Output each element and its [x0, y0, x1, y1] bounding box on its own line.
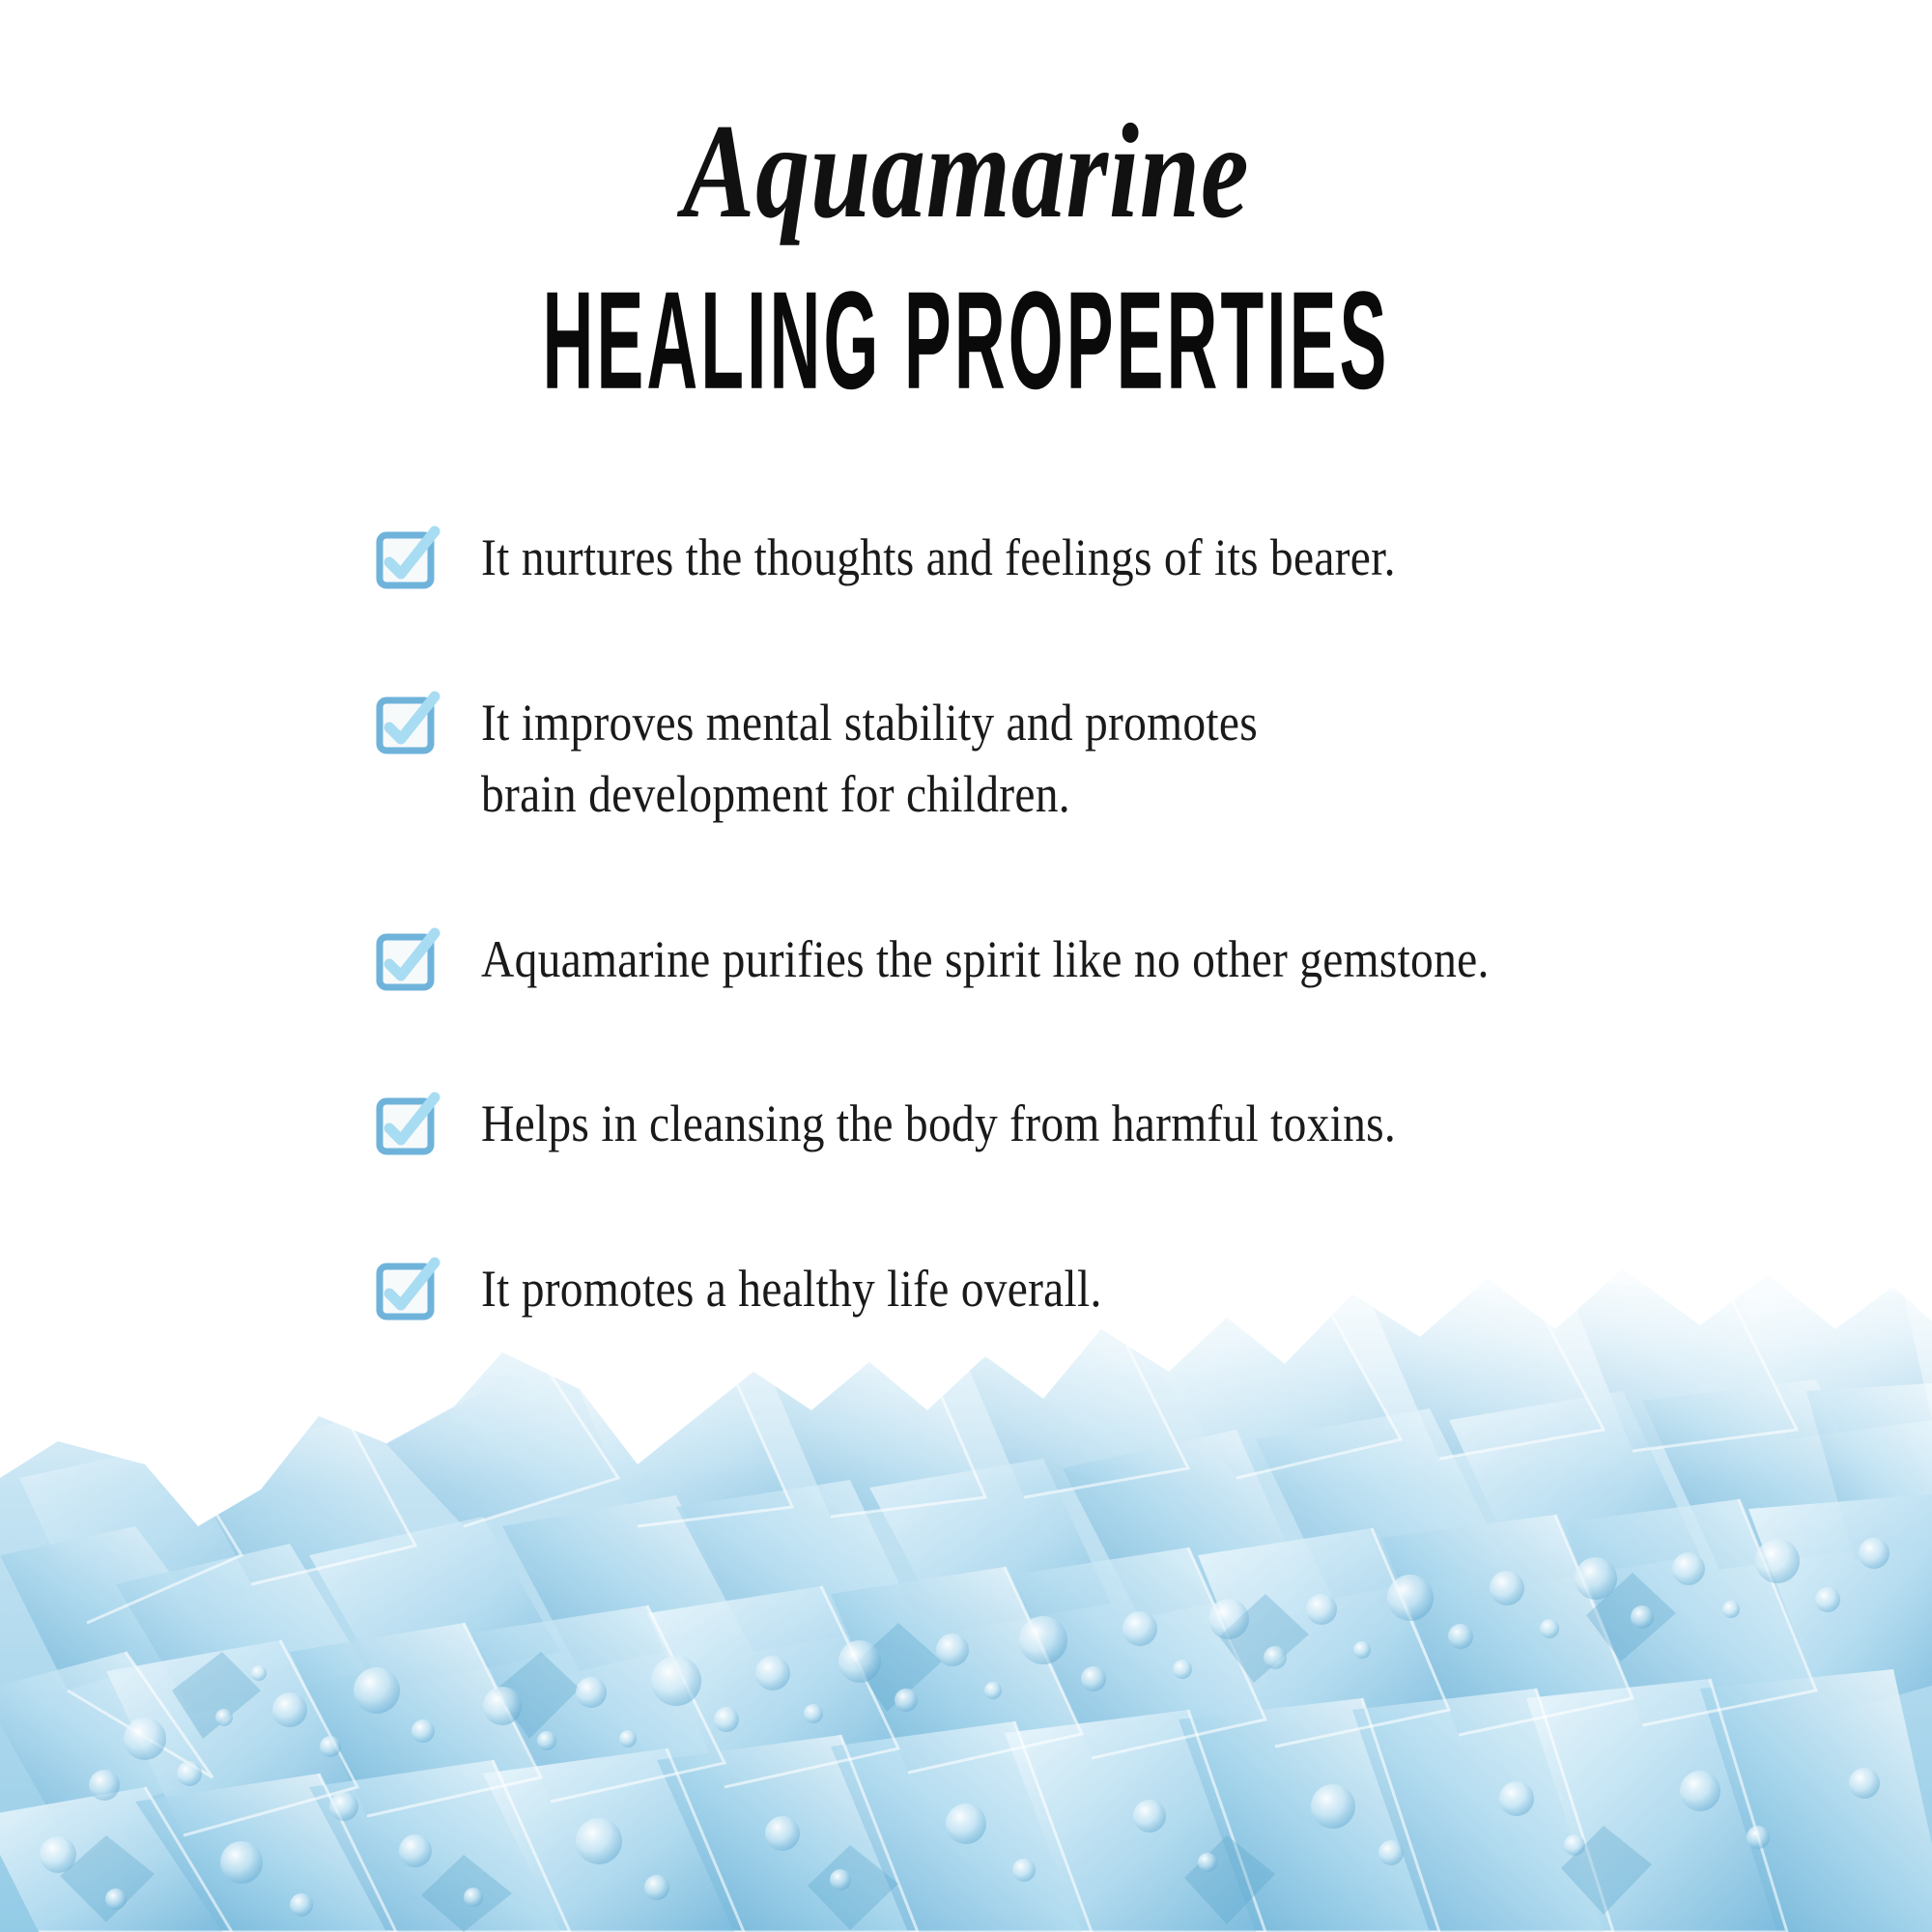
page-subtitle: HEALING PROPERTIES: [367, 271, 1565, 411]
list-item-label: Aquamarine purifies the spirit like no o…: [481, 923, 1490, 996]
list-item-label: It improves mental stability and promote…: [481, 687, 1258, 831]
aquamarine-healing-properties-poster: Aquamarine HEALING PROPERTIES It nurture…: [0, 0, 1932, 1932]
list-item-label: It nurtures the thoughts and feelings of…: [481, 522, 1396, 594]
list-item-label: Helps in cleansing the body from harmful…: [481, 1088, 1396, 1160]
list-item: Aquamarine purifies the spirit like no o…: [377, 923, 1845, 996]
healing-properties-list: It nurtures the thoughts and feelings of…: [377, 522, 1845, 1324]
list-item: It improves mental stability and promote…: [377, 687, 1845, 831]
ice-cubes-photo: [0, 1236, 1932, 1932]
checkbox-checked-icon: [377, 931, 437, 991]
list-item: Helps in cleansing the body from harmful…: [377, 1088, 1845, 1160]
checkbox-checked-icon: [377, 695, 437, 754]
list-item: It nurtures the thoughts and feelings of…: [377, 522, 1845, 594]
poster-header: Aquamarine HEALING PROPERTIES: [0, 0, 1932, 398]
checkbox-checked-icon: [377, 529, 437, 589]
checkbox-checked-icon: [377, 1095, 437, 1155]
page-title: Aquamarine: [193, 104, 1739, 240]
